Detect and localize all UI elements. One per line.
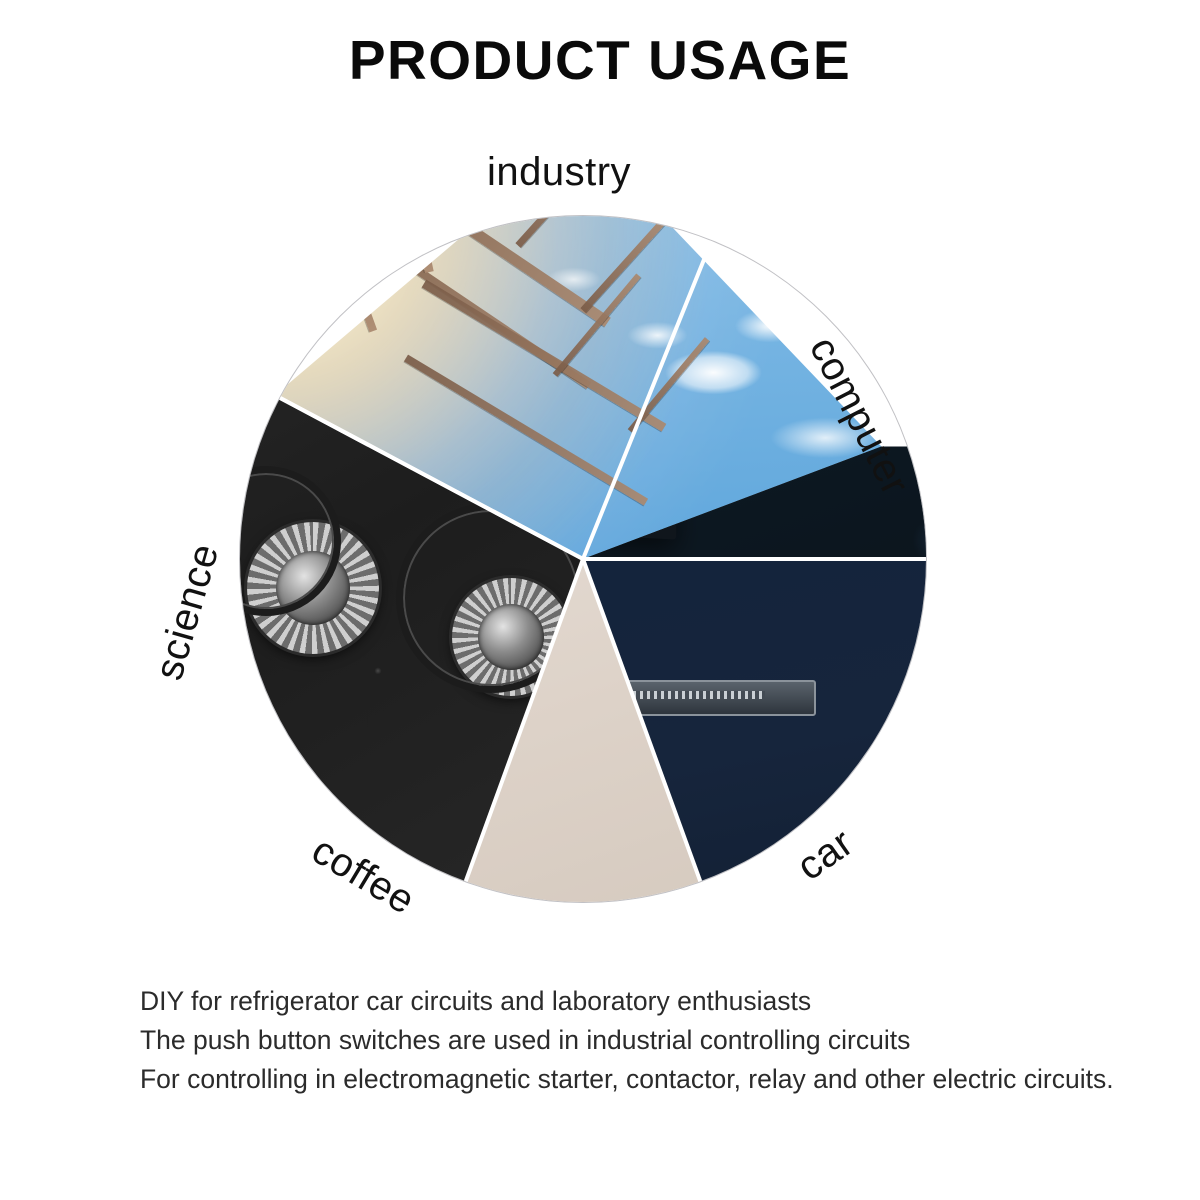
description-line-3: For controlling in electromagnetic start… <box>140 1060 1170 1099</box>
slice-label-industry: industry <box>487 150 631 195</box>
surface-detail <box>240 216 926 902</box>
slice-label-science: science <box>147 539 229 685</box>
pie-slice-science[interactable] <box>240 216 926 902</box>
science-artwork <box>240 216 926 902</box>
product-usage-page: PRODUCT USAGE <box>0 0 1200 1200</box>
pie-circle <box>240 216 926 902</box>
page-title: PRODUCT USAGE <box>0 28 1200 92</box>
description-line-1: DIY for refrigerator car circuits and la… <box>140 982 1170 1021</box>
description-block: DIY for refrigerator car circuits and la… <box>140 982 1170 1099</box>
machinery-field <box>240 216 926 902</box>
description-line-2: The push button switches are used in ind… <box>140 1021 1170 1060</box>
usage-pie-chart <box>240 216 926 902</box>
